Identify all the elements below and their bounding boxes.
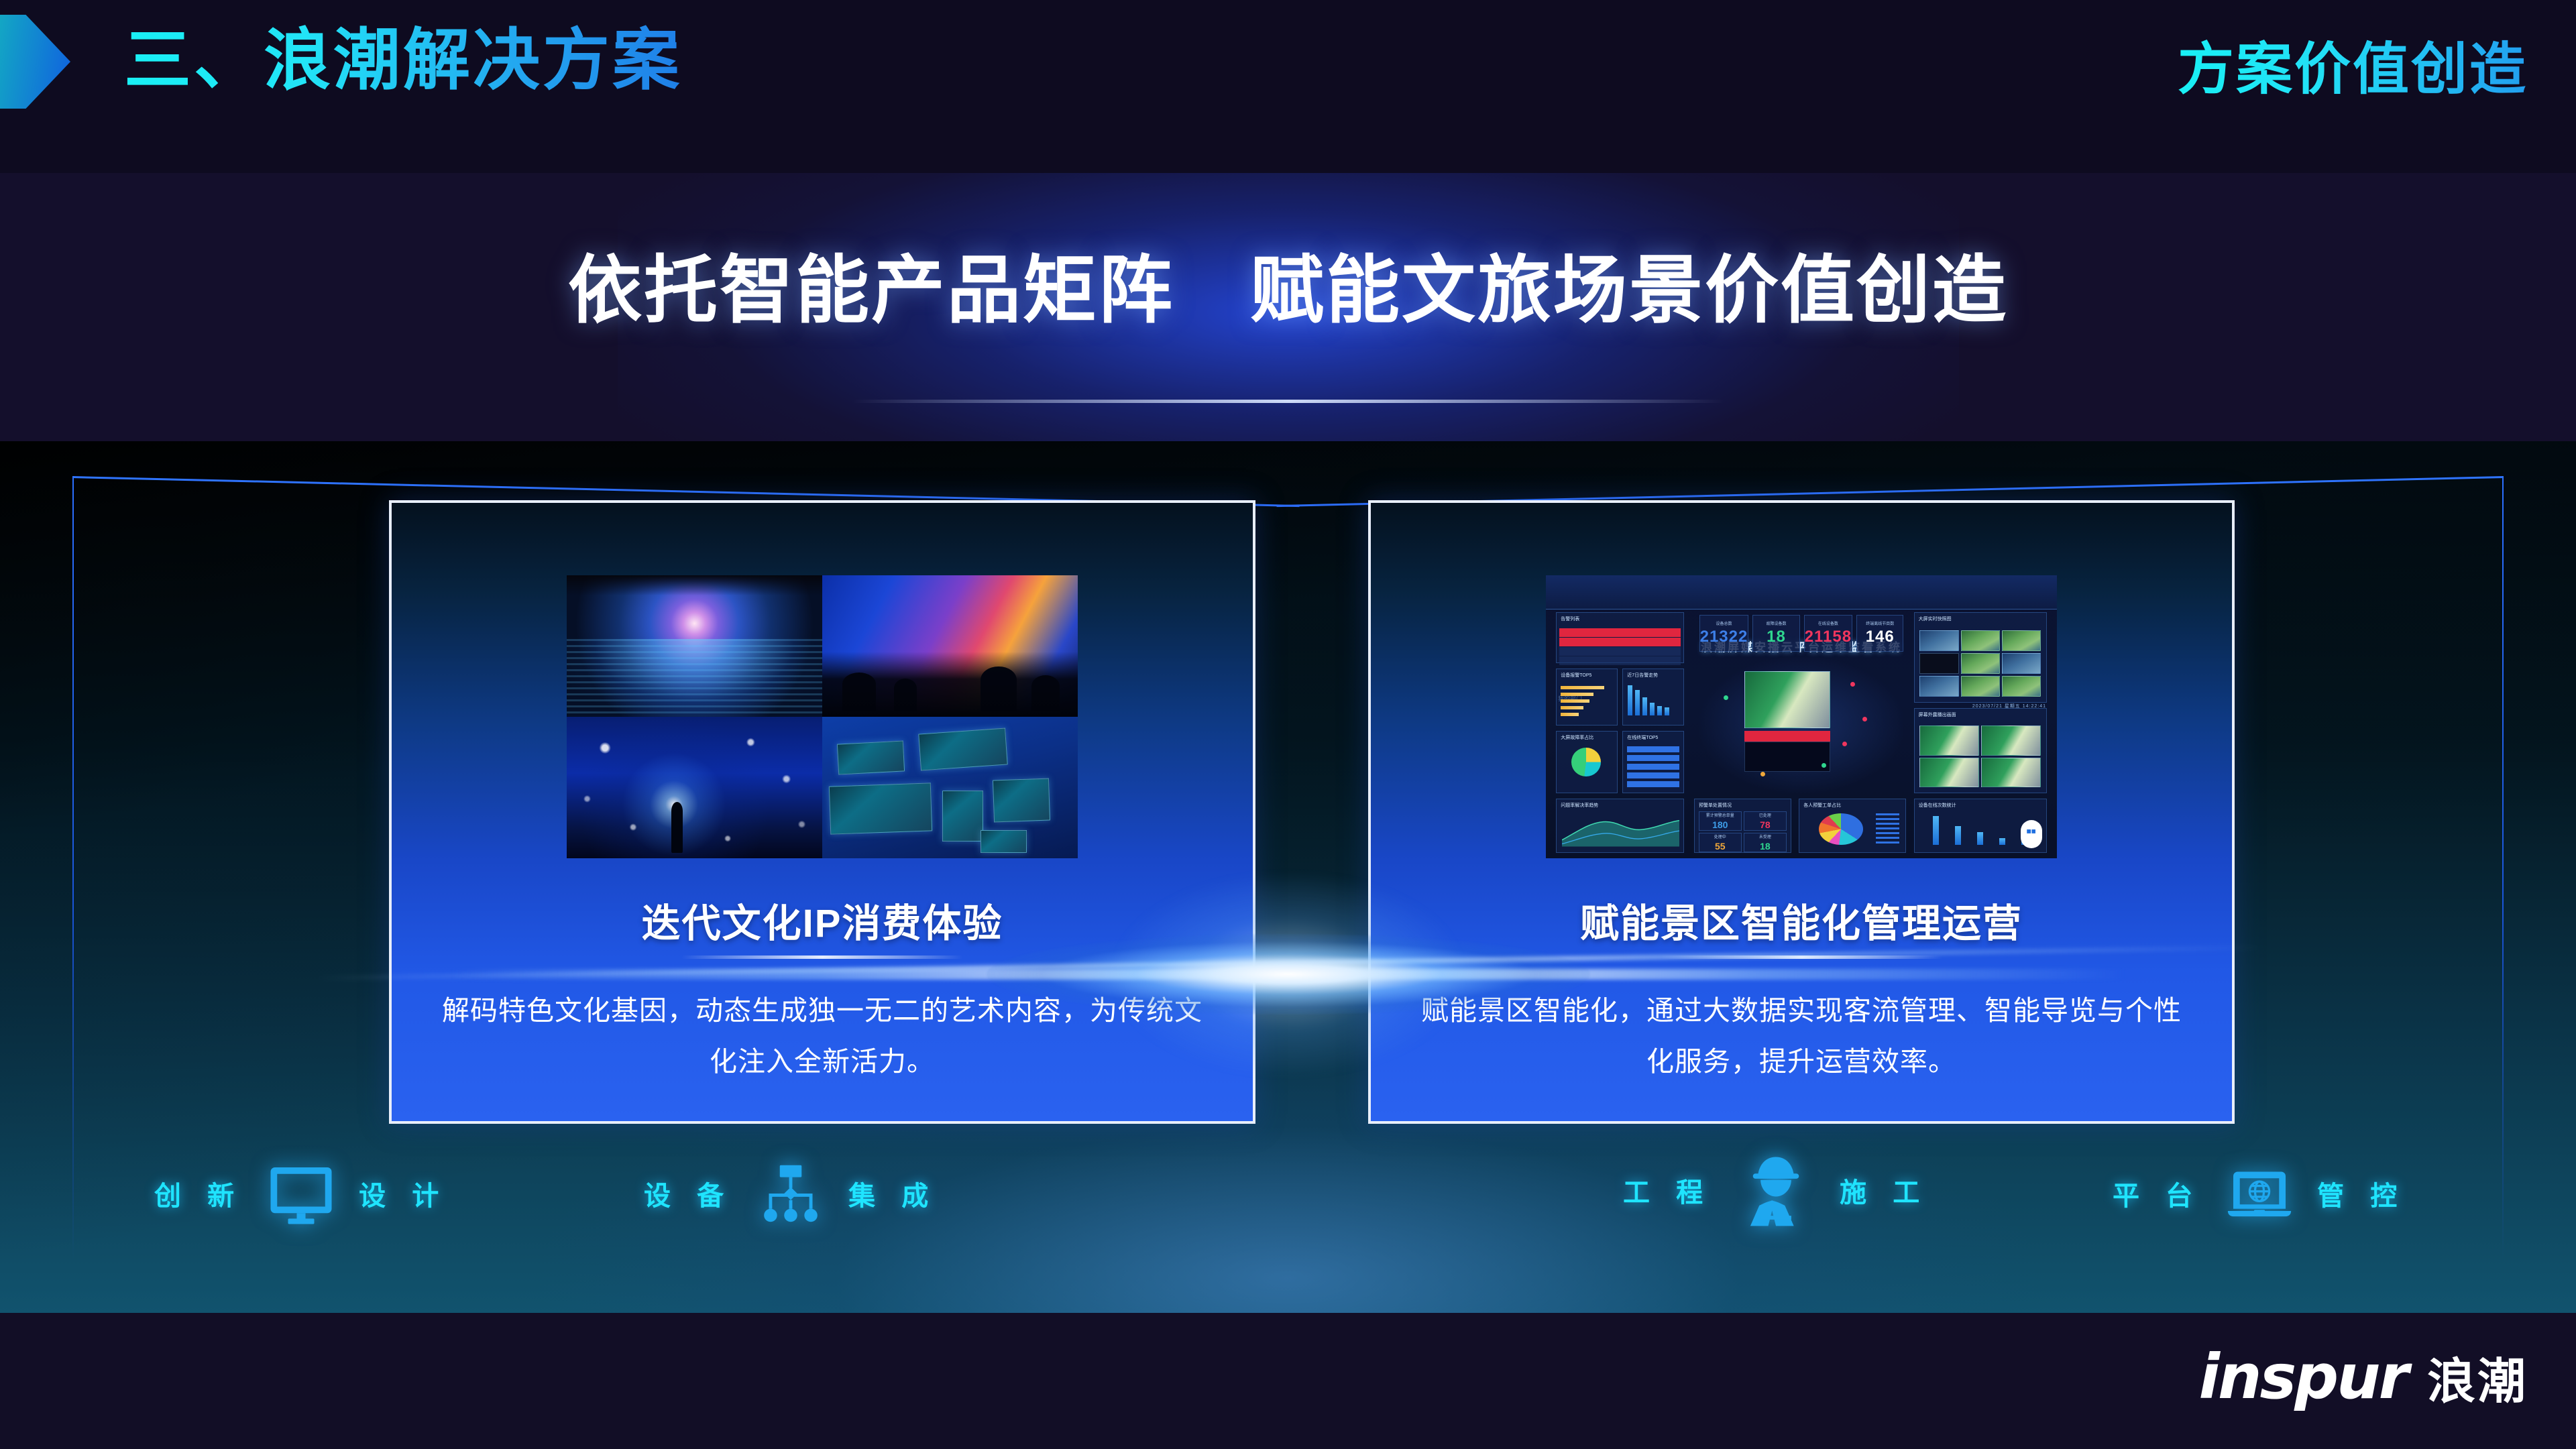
- pie-chart: [1571, 748, 1602, 777]
- sitemap-icon: [756, 1159, 826, 1228]
- panel-device-online-stat: 设备在线次数统计: [1914, 799, 2047, 852]
- panel-realtime-playback: 屏幕外露播出画面: [1914, 708, 2047, 793]
- section-subtitle: 方案价值创造: [2178, 24, 2528, 105]
- bar: [1657, 706, 1662, 716]
- panel-order-status: 预警单处置情况 累计预警总单量 180 已处理 78 处理中: [1694, 799, 1791, 852]
- bar: [1561, 699, 1589, 703]
- order-kpi-label: 已处理: [1759, 812, 1771, 818]
- kpi-card: 故障设备数 18: [1752, 615, 1799, 652]
- monitor-icon: [266, 1159, 336, 1228]
- section-title: 三、浪潮解决方案: [124, 19, 682, 103]
- order-kpi-value: 18: [1760, 841, 1771, 852]
- order-kpi: 累计预警总单量 180: [1699, 811, 1742, 831]
- map-pin: [1724, 695, 1728, 700]
- panel-alarm-type-ratio: 大屏故障率占比: [1556, 731, 1617, 793]
- bar: [1665, 707, 1669, 716]
- panel-device-alarm-top: 设备报警TOP5: [1556, 669, 1617, 725]
- order-kpi-label: 处理中: [1714, 833, 1726, 839]
- feature-card-scenic-management[interactable]: 浪潮屏媒安播云平台运维监看系统 我的部门 2023/07/21 星期五 14:2…: [1368, 500, 2235, 1124]
- order-kpi-value: 55: [1715, 841, 1726, 852]
- snapshot-thumb: [1961, 630, 2000, 651]
- panel-alarm-list: 告警列表: [1556, 612, 1684, 663]
- bar: [1561, 713, 1579, 716]
- snapshot-thumb: [1961, 653, 2000, 674]
- snapshot-thumb: [2002, 630, 2041, 651]
- panel-title: 设备在线次数统计: [1919, 802, 1956, 809]
- kpi-label: 终端离线节目数: [1866, 620, 1894, 626]
- playback-thumb: [1919, 758, 1979, 788]
- panel-media-top: 在线终端TOP5: [1622, 731, 1683, 793]
- capability-right-label: 管 控: [2317, 1174, 2406, 1213]
- panel-person-order-ratio: 各人预警工单占比: [1799, 799, 1906, 852]
- bar: [1635, 690, 1640, 716]
- panel-screen-snapshot: 大屏实时快照图: [1914, 612, 2047, 703]
- alarm-row: [1559, 647, 1681, 656]
- grid-icon: [2027, 829, 2035, 838]
- snapshot-thumb: [1919, 676, 1958, 697]
- capability-left-label: 平 台: [2113, 1174, 2202, 1213]
- gallery-screen: [837, 740, 905, 775]
- bar: [1999, 838, 2005, 845]
- visitor-silhouette: [671, 802, 683, 853]
- kpi-card: 在线设备数 21158: [1804, 615, 1852, 652]
- panel-title: 大屏实时快照图: [1919, 616, 1952, 622]
- map-pin: [1862, 717, 1867, 721]
- area-chart: [1562, 814, 1679, 846]
- map-pin: [1760, 772, 1765, 776]
- laptop-globe-icon: [2225, 1159, 2294, 1228]
- dashboard-header-bar: [1546, 575, 2057, 610]
- map-pin: [1850, 682, 1855, 687]
- kpi-value: 21158: [1805, 628, 1852, 646]
- monitoring-dashboard: 浪潮屏媒安播云平台运维监看系统 我的部门 2023/07/21 星期五 14:2…: [1546, 575, 2057, 858]
- panel-weekly-alarm-trend: 近7日告警走势: [1622, 669, 1683, 725]
- slide-headline: 依托智能产品矩阵 赋能文旅场景价值创造: [0, 230, 2576, 337]
- capability-right-label: 设 计: [359, 1174, 448, 1213]
- playback-thumb: [1981, 726, 2041, 756]
- capability-group-integration[interactable]: 设 备 集 成: [644, 1159, 938, 1228]
- map-popup-header: [1744, 731, 1830, 742]
- silhouette-group: [822, 649, 1078, 711]
- map-pin: [1842, 742, 1847, 746]
- kpi-card: 终端离线节目数 146: [1856, 615, 1903, 652]
- bar: [1955, 826, 1961, 844]
- inspur-logo: inspur 浪潮: [2198, 1341, 2528, 1413]
- headline-divider: [852, 400, 1724, 403]
- scenic-management-image: 浪潮屏媒安播云平台运维监看系统 我的部门 2023/07/21 星期五 14:2…: [1546, 575, 2057, 858]
- capability-group-platform[interactable]: 平 台 管 控: [2113, 1159, 2406, 1228]
- kpi-label: 故障设备数: [1766, 620, 1786, 626]
- presentation-slide: 三、浪潮解决方案 方案价值创造 依托智能产品矩阵 赋能文旅场景价值创造: [0, 0, 2576, 1449]
- culture-ip-image: [567, 575, 1078, 858]
- art-quadrant-screen-gallery: [822, 717, 1078, 858]
- order-kpi: 未受理 18: [1744, 833, 1787, 852]
- panel-title: 在线终端TOP5: [1627, 734, 1658, 741]
- snapshot-thumb: [1961, 676, 2000, 697]
- snapshot-thumb: [2002, 676, 2041, 697]
- bar: [1561, 706, 1583, 709]
- alarm-row: [1559, 656, 1681, 665]
- art-quadrant-aurora-wall: [822, 575, 1078, 717]
- panel-title: 问题率解决率趋势: [1561, 802, 1598, 809]
- logo-wordmark-cn: 浪潮: [2427, 1342, 2528, 1412]
- order-kpi: 处理中 55: [1699, 833, 1742, 852]
- bar: [1627, 755, 1680, 761]
- panel-title: 预警单处置情况: [1699, 802, 1732, 809]
- kpi-card: 设备总数 21322: [1699, 615, 1749, 652]
- panel-title: 屏幕外露播出画面: [1919, 711, 1956, 718]
- map-popup-thumbnail: [1744, 671, 1830, 728]
- map-view: [1699, 657, 1904, 793]
- logo-wordmark-en: inspur: [2198, 1341, 2407, 1413]
- bar: [1627, 764, 1680, 770]
- order-kpi-label: 未受理: [1759, 833, 1771, 839]
- bar: [1628, 685, 1632, 715]
- snapshot-thumb: [1919, 653, 1958, 674]
- dashboard-kpi-strip: 设备总数 21322 故障设备数 18 在线设备数 21158 终端离线节目: [1699, 615, 1904, 652]
- capability-right-label: 集 成: [848, 1174, 938, 1213]
- construction-worker-icon: [1735, 1149, 1817, 1231]
- bar: [1650, 703, 1655, 716]
- kpi-label: 在线设备数: [1818, 620, 1838, 626]
- gallery-screen: [981, 830, 1027, 853]
- card-title-divider: [681, 955, 963, 959]
- panel-title: 设备报警TOP5: [1561, 672, 1591, 679]
- bar: [1561, 693, 1593, 696]
- art-quadrant-jellyfish: [567, 717, 822, 858]
- immersive-art-collage: [567, 575, 1078, 858]
- capability-left-label: 设 备: [644, 1174, 733, 1213]
- headline-band: 依托智能产品矩阵 赋能文旅场景价值创造: [0, 173, 2576, 441]
- capability-right-label: 施 工: [1840, 1171, 1929, 1210]
- kpi-label: 设备总数: [1716, 620, 1732, 626]
- capability-group-construction[interactable]: 工 程 施 工: [1623, 1149, 1929, 1231]
- slide-footer: [0, 1313, 2576, 1449]
- art-quadrant-kaleidoscope: [567, 575, 822, 717]
- map-popup-body: [1744, 742, 1830, 772]
- kpi-value: 18: [1767, 628, 1786, 646]
- capability-left-label: 创 新: [154, 1174, 243, 1213]
- playback-thumb: [1919, 726, 1979, 756]
- bar: [1627, 781, 1680, 787]
- panel-title: 各人预警工单占比: [1803, 802, 1841, 809]
- bar: [1977, 832, 1983, 844]
- bar: [1627, 746, 1680, 752]
- order-kpi-label: 累计预警总单量: [1706, 812, 1734, 818]
- alarm-row: [1559, 628, 1681, 637]
- bar: [1933, 816, 1939, 845]
- slide-body: 迭代文化IP消费体验 解码特色文化基因，动态生成独一无二的艺术内容，为传统文化注…: [0, 441, 2576, 1313]
- capability-left-label: 工 程: [1623, 1171, 1712, 1210]
- center-flare-core: [987, 934, 1590, 1015]
- kpi-value: 146: [1866, 628, 1895, 646]
- capability-group-design[interactable]: 创 新 设 计: [154, 1159, 448, 1228]
- capability-icon-row: 创 新 设 计 设 备: [0, 1139, 2576, 1253]
- donut-chart: [1819, 813, 1863, 845]
- bar: [1642, 697, 1647, 715]
- panel-title: 近7日告警走势: [1627, 672, 1658, 679]
- card-title: 赋能景区智能化管理运营: [1371, 892, 2232, 948]
- dashboard-grid-button[interactable]: [2021, 820, 2042, 848]
- bar: [1627, 772, 1680, 778]
- card-description: 赋能景区智能化，通过大数据实现客流管理、智能导览与个性化服务，提升运营效率。: [1412, 986, 2190, 1088]
- gallery-screen: [942, 791, 983, 842]
- bar: [1561, 686, 1604, 689]
- playback-thumb: [1981, 758, 2041, 788]
- panel-title: 大屏故障率占比: [1561, 734, 1593, 741]
- gallery-screen: [993, 778, 1050, 822]
- gallery-screen: [829, 783, 933, 835]
- order-kpi-value: 78: [1760, 819, 1771, 830]
- panel-issue-rate-trend: 问题率解决率趋势: [1556, 799, 1684, 852]
- order-kpi: 已处理 78: [1744, 811, 1787, 831]
- panel-title: 告警列表: [1561, 616, 1579, 622]
- snapshot-thumb: [2002, 653, 2041, 674]
- kpi-value: 21322: [1700, 628, 1748, 646]
- alarm-row: [1559, 638, 1681, 646]
- chart-legend: [1876, 813, 1899, 845]
- snapshot-thumb: [1919, 630, 1958, 651]
- order-kpi-value: 180: [1712, 819, 1728, 830]
- gallery-screen: [918, 728, 1007, 771]
